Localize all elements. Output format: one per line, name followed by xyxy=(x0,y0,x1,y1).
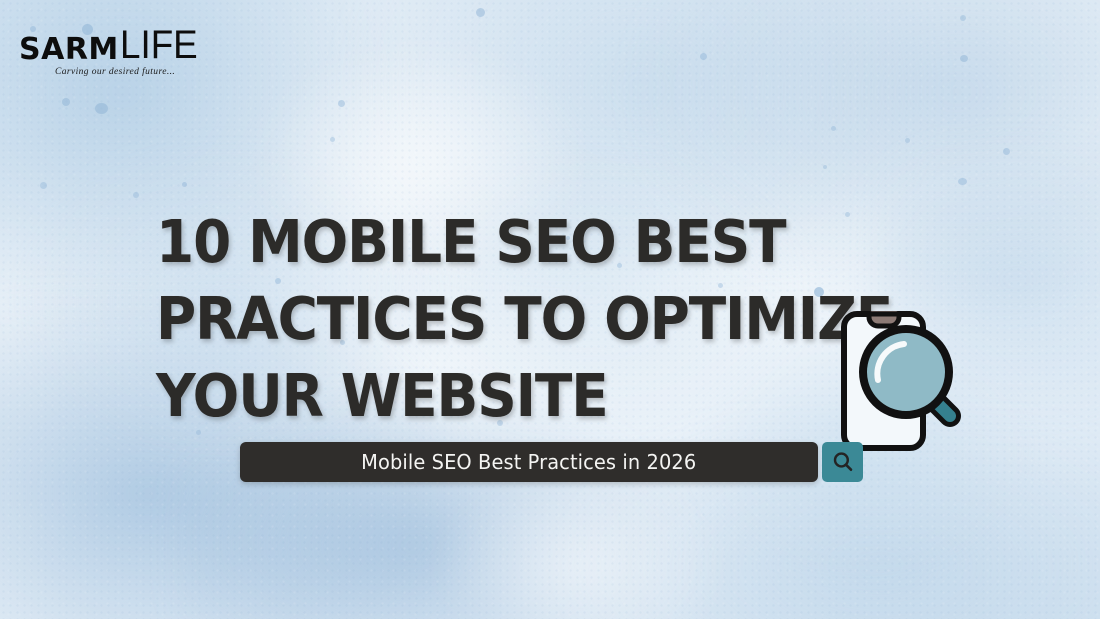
paint-splatter-dot xyxy=(1003,148,1010,155)
logo-name-bold: SARM xyxy=(19,35,119,65)
page-title-line-2: PRACTICES TO OPTIMIZE xyxy=(156,280,844,357)
search-input-value: Mobile SEO Best Practices in 2026 xyxy=(361,450,696,474)
paint-splatter-dot xyxy=(831,126,836,131)
logo-wordmark: SARM LIFE xyxy=(19,27,219,65)
search-input[interactable]: Mobile SEO Best Practices in 2026 xyxy=(240,442,818,482)
search-button[interactable] xyxy=(822,442,863,482)
search-icon xyxy=(831,450,855,474)
paint-splatter-dot xyxy=(905,138,910,143)
paint-splatter-dot xyxy=(95,103,108,114)
seo-blog-banner: SARM LIFE Carving our desired future... … xyxy=(0,0,1100,619)
paint-splatter-dot xyxy=(476,8,485,17)
paint-splatter-dot xyxy=(960,55,968,62)
paint-splatter-dot xyxy=(823,165,827,169)
paint-splatter-dot xyxy=(330,137,335,142)
brand-logo[interactable]: SARM LIFE Carving our desired future... xyxy=(19,27,219,77)
logo-tagline: Carving our desired future... xyxy=(55,67,219,77)
logo-name-light: LIFE xyxy=(120,28,198,62)
paint-splatter-dot xyxy=(338,100,345,107)
page-title-line-3: YOUR WEBSITE xyxy=(156,357,844,434)
paint-splatter-dot xyxy=(960,15,966,21)
paint-splatter-dot xyxy=(62,98,70,106)
paint-splatter-dot xyxy=(133,192,139,198)
page-title-line-1: 10 MOBILE SEO BEST xyxy=(156,203,844,280)
paint-splatter-dot xyxy=(700,53,707,60)
watercolor-wash xyxy=(430,470,730,619)
paint-splatter-dot xyxy=(40,182,47,189)
paint-splatter-dot xyxy=(958,178,967,185)
magnifying-glass-icon xyxy=(863,329,950,416)
page-title: 10 MOBILE SEO BEST PRACTICES TO OPTIMIZE… xyxy=(156,203,896,434)
paint-splatter-dot xyxy=(182,182,187,187)
